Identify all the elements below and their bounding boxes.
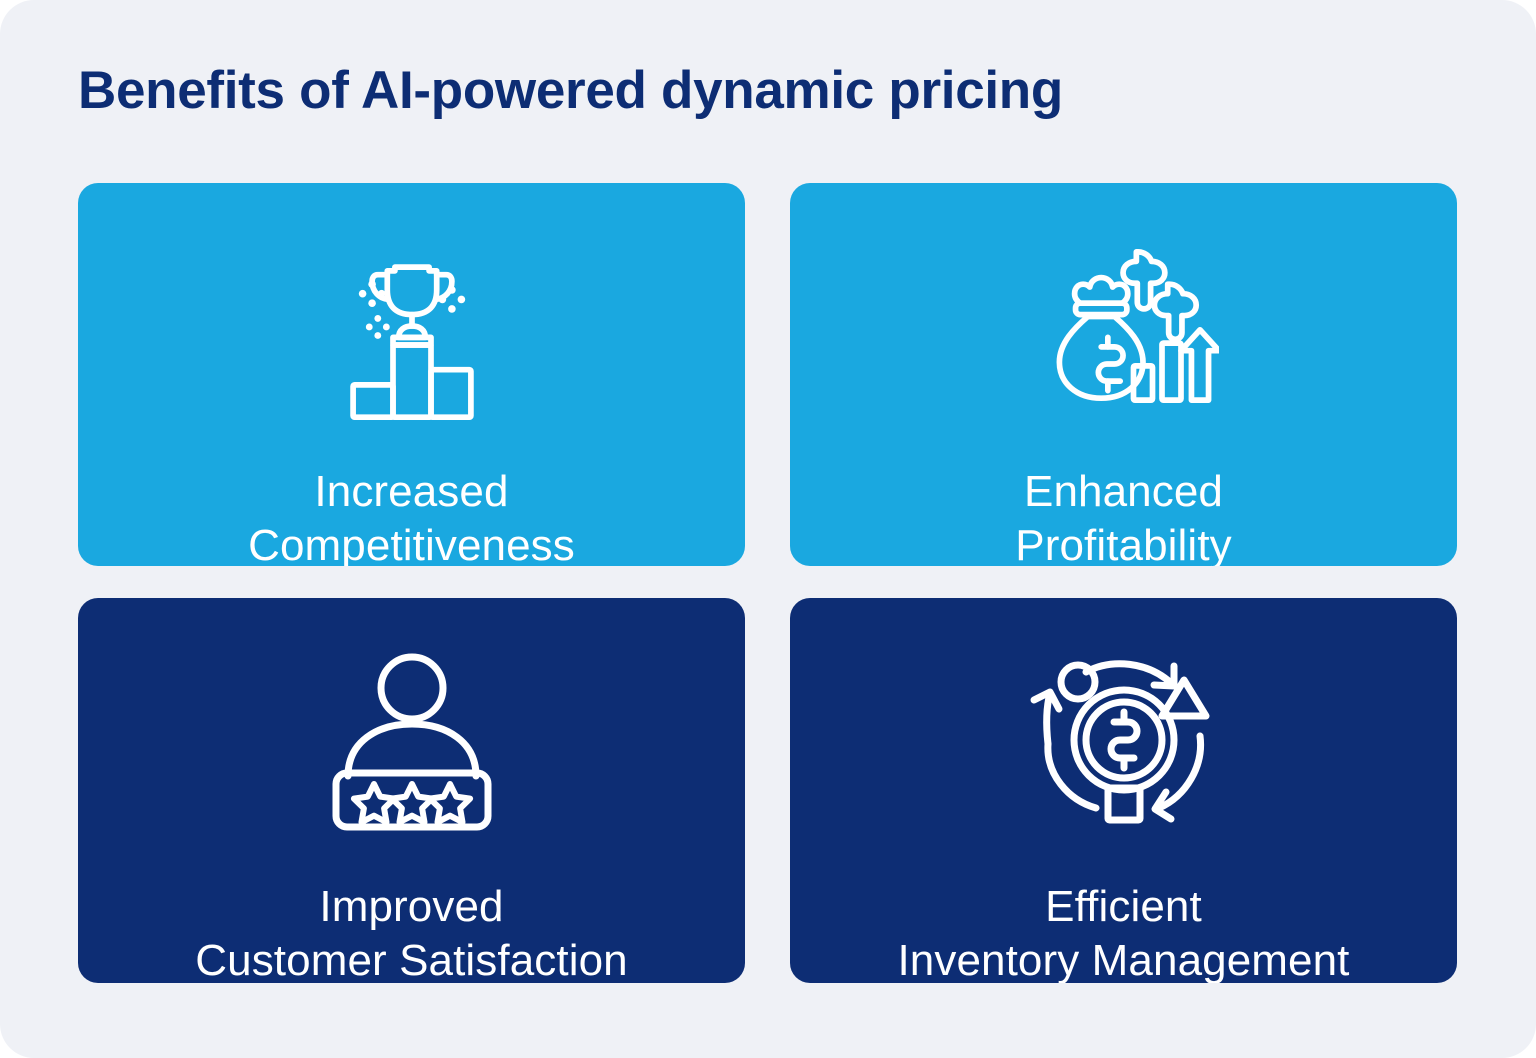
benefit-card-label: Efficient Inventory Management: [879, 880, 1367, 983]
person-star-rating-icon: [312, 640, 512, 840]
money-bag-growth-chart-icon: [1029, 231, 1219, 421]
benefit-card-efficient-inventory-management[interactable]: Efficient Inventory Management: [790, 598, 1457, 983]
dollar-coin-cycle-icon: [1024, 640, 1224, 840]
page-title: Benefits of AI-powered dynamic pricing: [78, 60, 1458, 123]
benefit-card-label: Enhanced Profitability: [997, 465, 1250, 566]
infographic-page: Benefits of AI-powered dynamic pricing: [0, 0, 1536, 1058]
benefit-card-label: Improved Customer Satisfaction: [177, 880, 646, 983]
content-panel: Benefits of AI-powered dynamic pricing: [0, 0, 1536, 1058]
benefit-card-label: Increased Competitiveness: [230, 465, 593, 566]
benefit-card-enhanced-profitability[interactable]: Enhanced Profitability: [790, 183, 1457, 566]
benefit-card-improved-customer-satisfaction[interactable]: Improved Customer Satisfaction: [78, 598, 745, 983]
benefits-grid: Increased Competitiveness: [78, 183, 1457, 983]
benefit-card-increased-competitiveness[interactable]: Increased Competitiveness: [78, 183, 745, 566]
trophy-podium-icon: [317, 231, 507, 421]
